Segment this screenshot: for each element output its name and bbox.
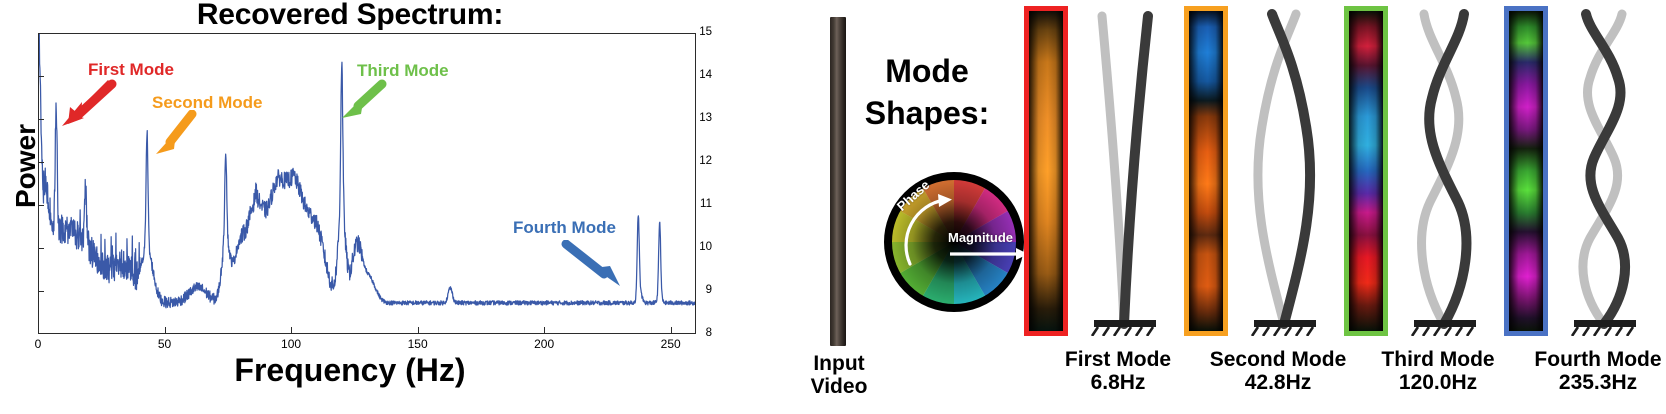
x-tick-mark <box>418 327 419 334</box>
x-tick-mark <box>671 327 672 334</box>
x-tick-mark <box>291 327 292 334</box>
mode-deflection-diagram-fourth <box>1556 6 1652 336</box>
mode-name-second: Second Mode <box>1210 348 1347 371</box>
mode-deflection-diagram-second <box>1236 6 1332 336</box>
input-video-caption-line2: Video <box>811 375 868 398</box>
annotation-arrow-fourth-mode <box>560 240 630 290</box>
mode-frequency-third: 120.0Hz <box>1399 371 1477 394</box>
x-tick-label: 250 <box>651 337 691 351</box>
mode-caption-fourth: Fourth Mode 235.3Hz <box>1498 348 1666 394</box>
magnitude-label: Magnitude <box>948 230 1013 245</box>
mode-shapes-heading-line2: Shapes: <box>865 95 989 131</box>
mode-phase-image-first[interactable] <box>1024 6 1068 336</box>
input-video-caption-line1: Input <box>813 352 864 375</box>
mode-shapes-heading-line1: Mode <box>885 53 969 89</box>
figure-root: Recovered Spectrum: Power 15141312111098… <box>0 0 1666 414</box>
mode-column-fourth[interactable]: Fourth Mode 235.3Hz <box>1504 0 1666 414</box>
recovered-spectrum-panel: Recovered Spectrum: Power 15141312111098… <box>0 0 712 414</box>
x-tick-label: 50 <box>145 337 185 351</box>
x-tick-label: 100 <box>271 337 311 351</box>
annotation-arrow-first-mode <box>52 78 118 128</box>
input-video-caption: Input Video <box>789 352 889 398</box>
annotation-label-fourth-mode: Fourth Mode <box>513 218 616 238</box>
mode-frequency-first: 6.8Hz <box>1091 371 1146 394</box>
annotation-label-first-mode: First Mode <box>88 60 174 80</box>
mode-name-third: Third Mode <box>1381 348 1494 371</box>
x-tick-label: 0 <box>18 337 58 351</box>
mode-phase-image-fourth[interactable] <box>1504 6 1548 336</box>
annotation-arrow-third-mode <box>334 78 392 122</box>
phase-magnitude-color-wheel-legend: Phase Magnitude <box>880 168 1040 328</box>
x-tick-mark <box>165 327 166 334</box>
x-tick-label: 150 <box>398 337 438 351</box>
mode-frequency-second: 42.8Hz <box>1245 371 1312 394</box>
mode-shapes-heading: Mode Shapes: <box>832 50 1022 134</box>
mode-name-fourth: Fourth Mode <box>1534 348 1661 371</box>
mode-name-first: First Mode <box>1065 348 1171 371</box>
x-tick-mark <box>544 327 545 334</box>
mode-phase-image-third[interactable] <box>1344 6 1388 336</box>
x-axis-label: Frequency (Hz) <box>0 352 700 389</box>
mode-deflection-diagram-third <box>1396 6 1492 336</box>
x-tick-label: 200 <box>524 337 564 351</box>
mode-deflection-diagram-first <box>1076 6 1172 336</box>
mode-frequency-fourth: 235.3Hz <box>1559 371 1637 394</box>
annotation-arrow-second-mode <box>148 110 202 158</box>
mode-phase-image-second[interactable] <box>1184 6 1228 336</box>
mode-shapes-panel: Input Video Mode Shapes: <box>712 0 1666 414</box>
